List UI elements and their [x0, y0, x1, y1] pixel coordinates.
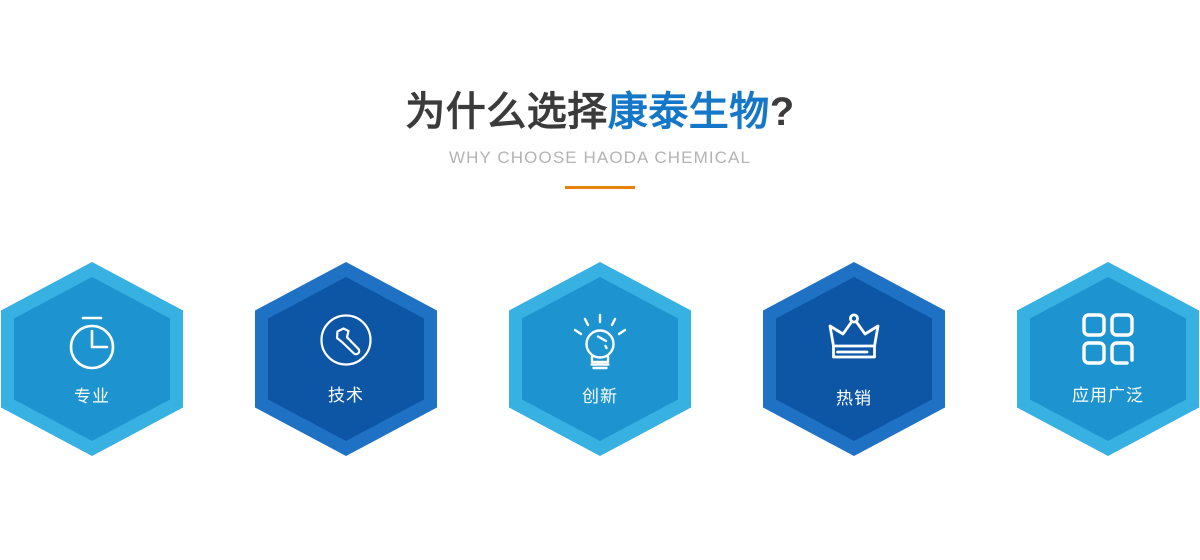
grid-squares-icon: [1081, 312, 1135, 366]
feature-hexagon-row: 专业 技术: [0, 262, 1200, 456]
feature-card-bestseller[interactable]: 热销: [763, 262, 945, 456]
feature-label: 创新: [582, 387, 618, 407]
feature-card-content: 技术: [255, 262, 437, 456]
feature-label: 技术: [328, 386, 364, 406]
feature-card-content: 创新: [509, 262, 691, 456]
feature-label: 应用广泛: [1072, 386, 1144, 406]
feature-card-content: 应用广泛: [1017, 262, 1199, 456]
feature-card-technology[interactable]: 技术: [255, 262, 437, 456]
page-title-accent: 康泰生物: [608, 90, 770, 134]
lightbulb-icon: [568, 311, 632, 375]
page-title-prefix: 为什么选择: [405, 90, 608, 134]
feature-label: 热销: [836, 389, 872, 409]
crown-icon: [823, 309, 885, 371]
feature-card-content: 专业: [1, 262, 183, 456]
stopwatch-icon: [61, 311, 123, 373]
feature-label: 专业: [74, 387, 110, 407]
section-subtitle: WHY CHOOSE HAODA CHEMICAL: [0, 147, 1200, 169]
feature-card-content: 热销: [763, 262, 945, 456]
wrench-circle-icon: [318, 312, 374, 368]
section-heading: 为什么选择康泰生物? WHY CHOOSE HAODA CHEMICAL: [0, 86, 1200, 189]
page-title: 为什么选择康泰生物?: [0, 86, 1200, 138]
why-choose-us-section: 为什么选择康泰生物? WHY CHOOSE HAODA CHEMICAL: [0, 0, 1200, 560]
page-title-suffix: ?: [770, 90, 795, 134]
heading-divider: [565, 186, 635, 189]
feature-card-professional[interactable]: 专业: [1, 262, 183, 456]
feature-card-innovation[interactable]: 创新: [509, 262, 691, 456]
feature-card-wide-application[interactable]: 应用广泛: [1017, 262, 1199, 456]
